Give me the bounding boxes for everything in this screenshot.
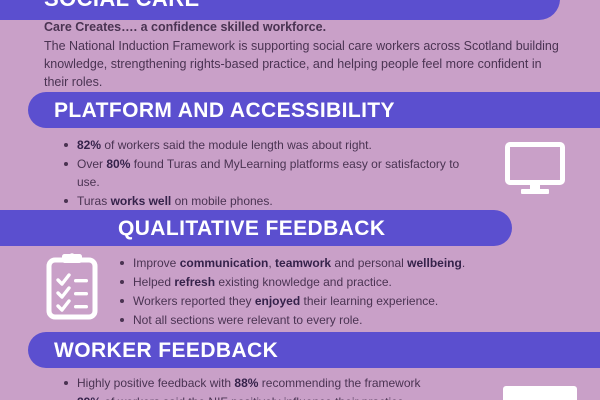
intro-body-text: The National Induction Framework is supp… (44, 37, 564, 91)
list-item: 89% of workers said the NIF positively i… (62, 393, 492, 400)
white-card-icon (503, 386, 577, 400)
bullet-list-platform: 82% of workers said the module length wa… (62, 136, 482, 211)
list-item: Over 80% found Turas and MyLearning plat… (62, 155, 482, 191)
section-title-platform-accessibility: PLATFORM AND ACCESSIBILITY (54, 100, 395, 121)
intro-block: Care Creates…. a confidence skilled work… (44, 18, 564, 92)
clipboard-checklist-icon (44, 252, 100, 320)
monitor-screen (505, 142, 565, 185)
section-title-worker-feedback: WORKER FEEDBACK (54, 340, 278, 361)
monitor-icon (505, 142, 565, 194)
list-item: Turas works well on mobile phones. (62, 192, 482, 210)
list-item: Not all sections were relevant to every … (118, 311, 498, 329)
infographic-page: SOCIAL CARE Care Creates…. a confidence … (0, 0, 600, 400)
bullet-list-qualitative: Improve communication, teamwork and pers… (118, 254, 498, 330)
section-title-social-care: SOCIAL CARE (44, 0, 200, 10)
list-item: Helped refresh existing knowledge and pr… (118, 273, 498, 291)
section-header-social-care: SOCIAL CARE (0, 0, 560, 20)
list-item: Workers reported they enjoyed their lear… (118, 292, 498, 310)
section-header-qualitative-feedback: QUALITATIVE FEEDBACK (0, 210, 512, 246)
monitor-base (521, 189, 549, 194)
bullet-list-worker: Highly positive feedback with 88% recomm… (62, 374, 492, 400)
intro-lead-text: Care Creates…. a confidence skilled work… (44, 18, 564, 36)
list-item: Highly positive feedback with 88% recomm… (62, 374, 492, 392)
section-header-worker-feedback: WORKER FEEDBACK (28, 332, 600, 368)
list-item: Improve communication, teamwork and pers… (118, 254, 498, 272)
list-item: 82% of workers said the module length wa… (62, 136, 482, 154)
section-title-qualitative-feedback: QUALITATIVE FEEDBACK (118, 218, 385, 239)
section-header-platform-accessibility: PLATFORM AND ACCESSIBILITY (28, 92, 600, 128)
